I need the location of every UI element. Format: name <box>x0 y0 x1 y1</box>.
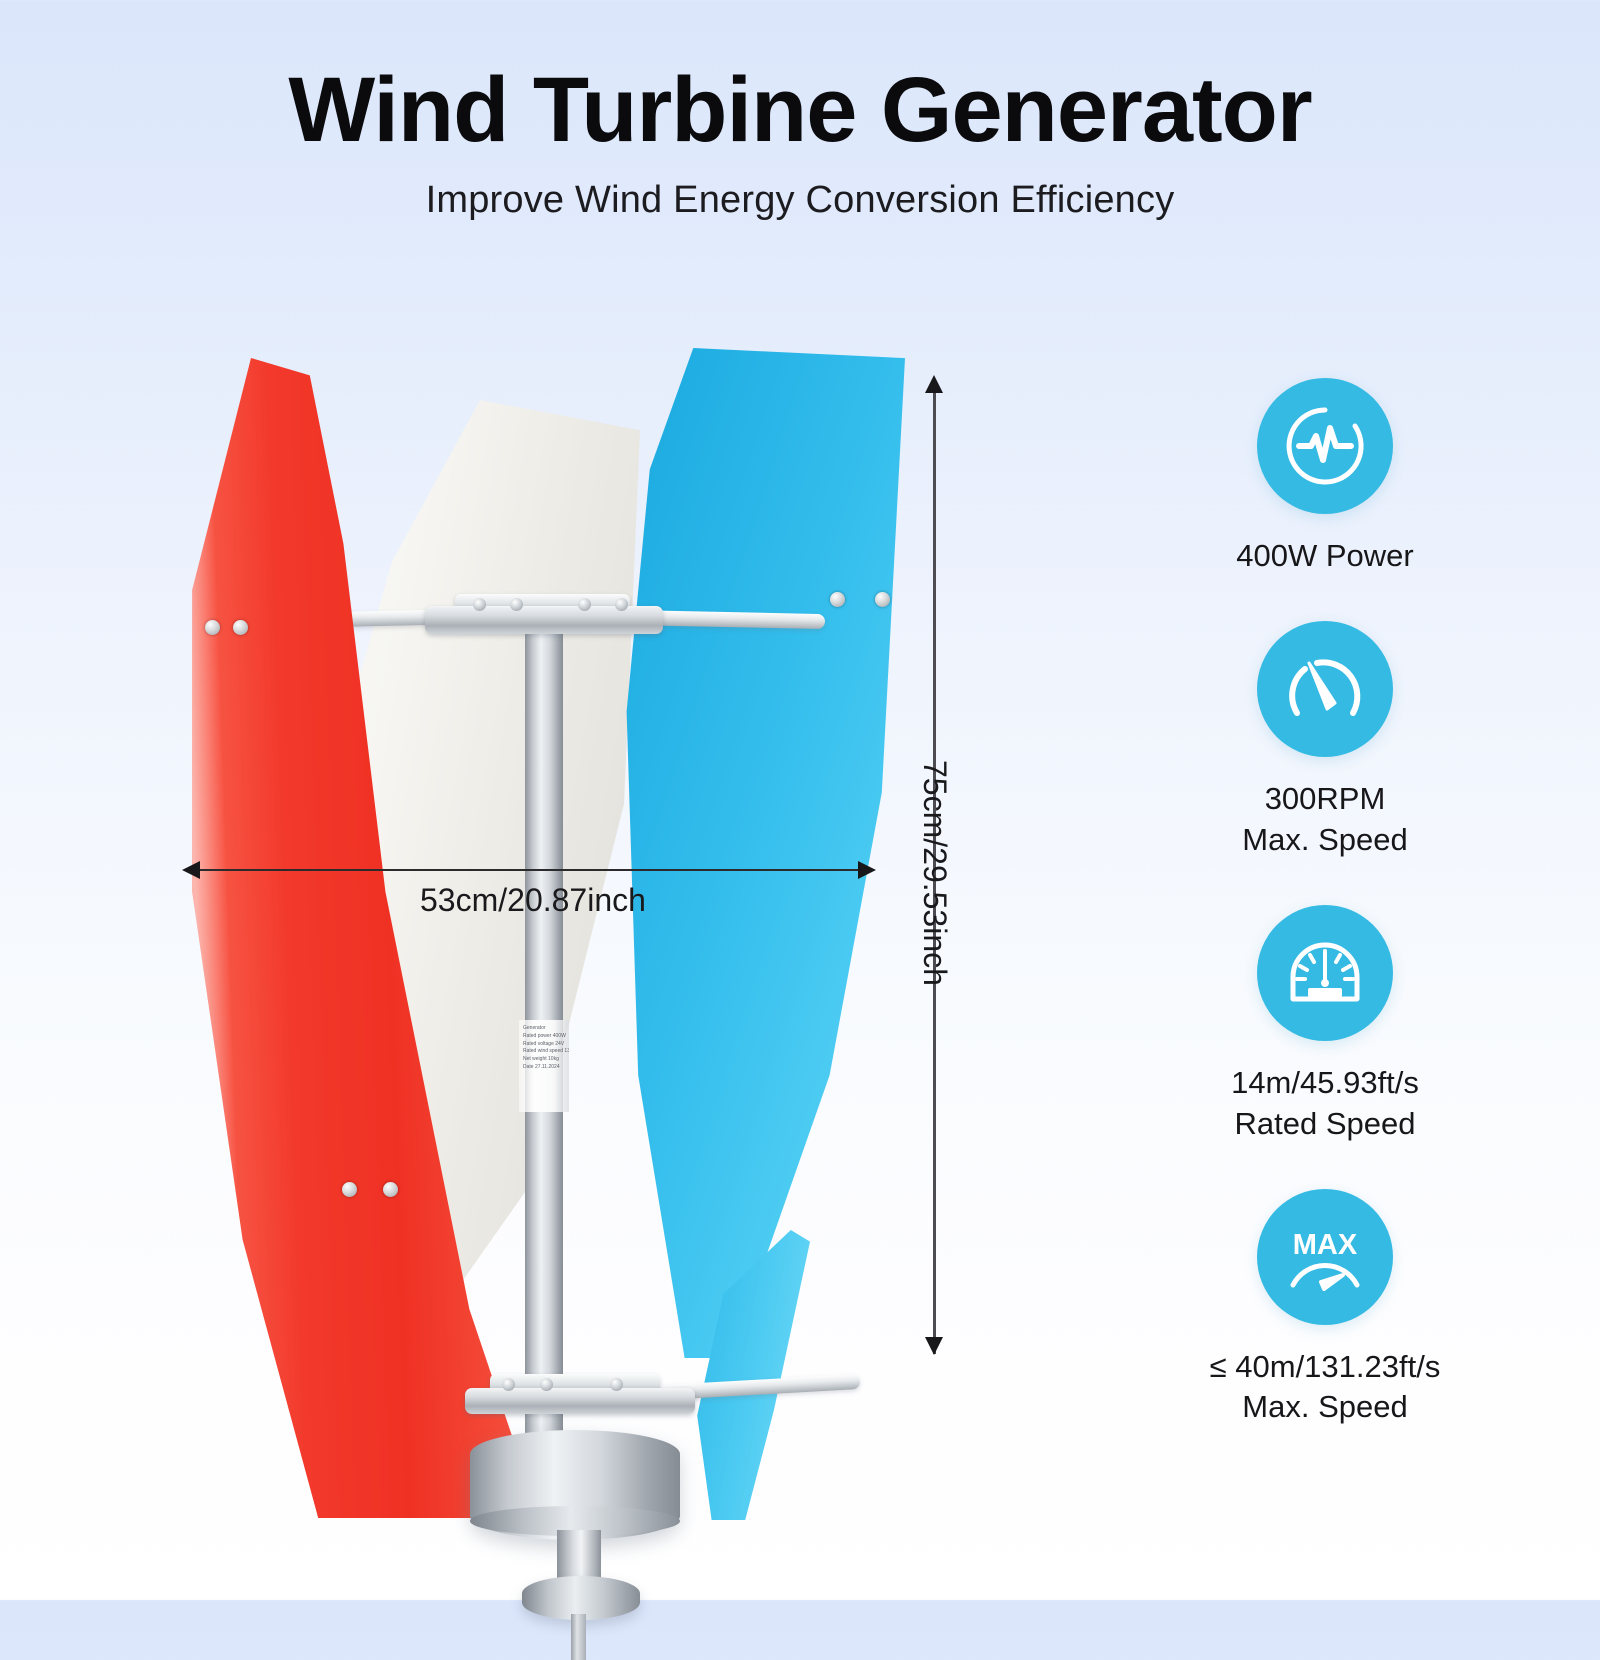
hub-bolt <box>610 1378 623 1391</box>
feature-line1: 400W Power <box>1236 538 1413 573</box>
spec-line: Rated power 400W <box>523 1033 565 1041</box>
feature-item-max-speed: MAX ≤ 40m/131.23ft/s Max. Speed <box>1090 1189 1560 1429</box>
generator-mounting-stud <box>571 1614 586 1660</box>
blade-screw <box>233 620 248 635</box>
spec-line: Date 27.11.2024 <box>523 1064 565 1072</box>
generator-spec-label: Generator Rated power 400W Rated voltage… <box>519 1020 569 1112</box>
blade-screw <box>342 1182 357 1197</box>
feature-line2: Max. Speed <box>1090 1387 1560 1428</box>
feature-list: 400W Power 300RPM Max. Speed <box>1090 378 1560 1428</box>
spec-line: Generator <box>523 1025 565 1033</box>
blade-screw <box>830 592 845 607</box>
hub-bolt <box>473 598 486 611</box>
spec-line: Net weight 10kg <box>523 1056 565 1064</box>
feature-item-rated-speed: 14m/45.93ft/s Rated Speed <box>1090 905 1560 1145</box>
feature-item-power: 400W Power <box>1090 378 1560 577</box>
width-dimension-label: 53cm/20.87inch <box>420 882 646 919</box>
hub-bolt <box>615 598 628 611</box>
page-subtitle: Improve Wind Energy Conversion Efficienc… <box>0 179 1600 222</box>
hub-bottom <box>465 1388 695 1414</box>
feature-line1: 14m/45.93ft/s <box>1231 1065 1419 1100</box>
width-dimension-line <box>190 869 870 871</box>
spec-line: Rated wind speed 13m/s <box>523 1048 565 1056</box>
feature-line1: ≤ 40m/131.23ft/s <box>1210 1349 1441 1384</box>
width-arrow-left-icon <box>182 861 200 879</box>
height-dimension-label: 75cm/29.53inch <box>916 760 953 986</box>
feature-item-rpm: 300RPM Max. Speed <box>1090 621 1560 861</box>
blade-screw <box>383 1182 398 1197</box>
max-gauge-icon: MAX <box>1257 1189 1393 1325</box>
generator-neck <box>557 1530 601 1582</box>
hub-bolt <box>578 598 591 611</box>
feature-text-rpm: 300RPM Max. Speed <box>1090 779 1560 861</box>
blue-blade-edge <box>615 348 905 1358</box>
blade-screw <box>875 592 890 607</box>
feature-text-max-speed: ≤ 40m/131.23ft/s Max. Speed <box>1090 1347 1560 1429</box>
svg-text:MAX: MAX <box>1293 1229 1358 1261</box>
hub-top <box>425 606 663 634</box>
feature-text-rated-speed: 14m/45.93ft/s Rated Speed <box>1090 1063 1560 1145</box>
height-arrow-top-icon <box>925 375 943 393</box>
dashboard-gauge-icon <box>1257 905 1393 1041</box>
spec-line: Rated voltage 24V <box>523 1041 565 1049</box>
speedometer-icon <box>1257 621 1393 757</box>
hub-bolt <box>502 1378 515 1391</box>
hub-bolt <box>510 598 523 611</box>
feature-line2: Rated Speed <box>1090 1104 1560 1145</box>
width-arrow-right-icon <box>858 861 876 879</box>
feature-line1: 300RPM <box>1265 781 1386 816</box>
hub-bolt <box>540 1378 553 1391</box>
blade-screw <box>205 620 220 635</box>
page-title: Wind Turbine Generator <box>0 62 1600 159</box>
pulse-power-icon <box>1257 378 1393 514</box>
feature-line2: Max. Speed <box>1090 820 1560 861</box>
height-arrow-bottom-icon <box>925 1337 943 1355</box>
header: Wind Turbine Generator Improve Wind Ener… <box>0 62 1600 222</box>
feature-text-power: 400W Power <box>1090 536 1560 577</box>
